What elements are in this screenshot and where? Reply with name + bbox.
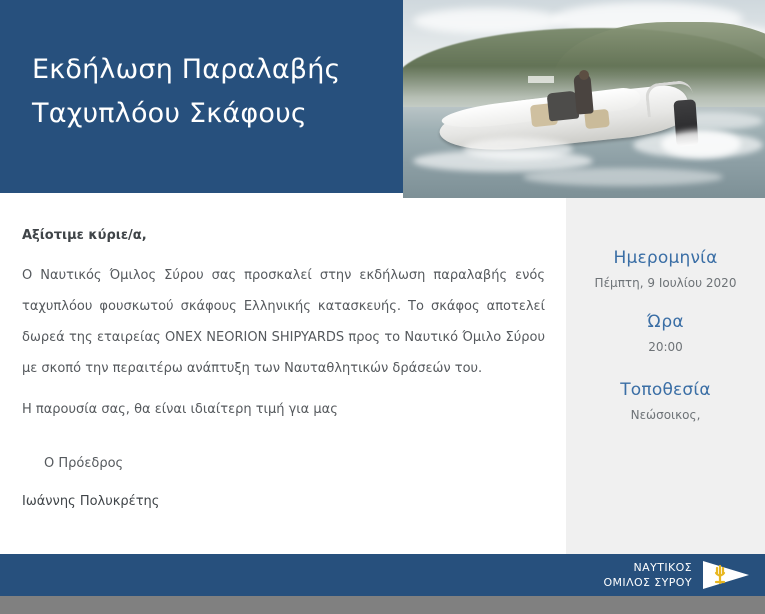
closing-line: Η παρουσία σας, θα είναι ιδιαίτερη τιμή … xyxy=(22,394,545,425)
detail-title-location: Τοποθεσία xyxy=(566,378,765,402)
page-title-line2: Ταχυπλόου Σκάφους xyxy=(32,92,387,136)
page-background-strip xyxy=(0,596,765,614)
signature-name: Ιωάννης Πολυκρέτης xyxy=(22,494,159,509)
organization-name-line1: ΝΑΥΤΙΚΟΣ xyxy=(634,561,692,574)
header-blue-panel: Εκδήλωση Παραλαβής Ταχυπλόου Σκάφους xyxy=(0,0,403,193)
photo-driver-head xyxy=(579,70,589,80)
page-title-line1: Εκδήλωση Παραλαβής xyxy=(32,54,341,85)
letter-body: Αξίοτιμε κύριε/α, Ο Ναυτικός Όμιλος Σύρο… xyxy=(0,198,566,554)
detail-value-location: Νεώσοικος, xyxy=(566,404,765,426)
salutation: Αξίοτιμε κύριε/α, xyxy=(22,228,147,243)
photo-wake xyxy=(523,168,723,186)
header-banner: Εκδήλωση Παραλαβής Ταχυπλόου Σκάφους xyxy=(0,0,765,198)
organization-name-line2: ΟΜΙΛΟΣ ΣΥΡΟΥ xyxy=(603,575,692,590)
detail-value-date: Πέμπτη, 9 Ιουλίου 2020 xyxy=(566,272,765,294)
invitation-document: Εκδήλωση Παραλαβής Ταχυπλόου Σκάφους xyxy=(0,0,765,596)
organization-name: ΝΑΥΤΙΚΟΣ ΟΜΙΛΟΣ ΣΥΡΟΥ xyxy=(603,560,692,590)
detail-block-location: Τοποθεσία Νεώσοικος, xyxy=(566,378,765,426)
detail-block-time: Ώρα 20:00 xyxy=(566,310,765,358)
photo-spray xyxy=(661,130,741,158)
footer-branding: ΝΑΥΤΙΚΟΣ ΟΜΙΛΟΣ ΣΥΡΟΥ xyxy=(603,554,751,596)
detail-block-date: Ημερομηνία Πέμπτη, 9 Ιουλίου 2020 xyxy=(566,246,765,294)
speedboat-photo xyxy=(403,0,765,198)
page-title: Εκδήλωση Παραλαβής Ταχυπλόου Σκάφους xyxy=(32,48,387,136)
document-page: Εκδήλωση Παραλαβής Ταχυπλόου Σκάφους xyxy=(0,0,765,614)
detail-title-date: Ημερομηνία xyxy=(566,246,765,270)
event-details-sidebar: Ημερομηνία Πέμπτη, 9 Ιουλίου 2020 Ώρα 20… xyxy=(566,198,765,554)
detail-value-time: 20:00 xyxy=(566,336,765,358)
signature-role: Ο Πρόεδρος xyxy=(44,456,123,471)
detail-title-time: Ώρα xyxy=(566,310,765,334)
invitation-paragraph: Ο Ναυτικός Όμιλος Σύρου σας προσκαλεί στ… xyxy=(22,260,545,384)
burgee-flag-trident-icon xyxy=(701,560,751,590)
footer-bar: ΝΑΥΤΙΚΟΣ ΟΜΙΛΟΣ ΣΥΡΟΥ xyxy=(0,554,765,596)
